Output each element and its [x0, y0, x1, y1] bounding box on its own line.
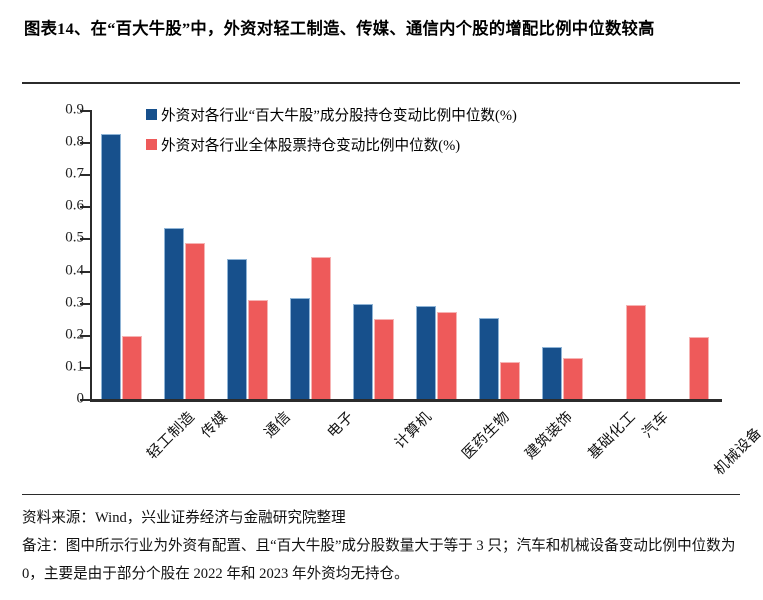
bar-group — [594, 110, 657, 399]
bar-group — [90, 110, 153, 399]
page-title: 图表14、在“百大牛股”中，外资对轻工制造、传媒、通信内个股的增配比例中位数较高 — [24, 14, 750, 44]
y-tick-label: 0.9 — [65, 102, 84, 119]
bar-red[interactable] — [689, 337, 709, 399]
bar-blue[interactable] — [542, 347, 562, 399]
bar-red[interactable] — [122, 336, 142, 399]
x-category-label: 通信 — [259, 406, 295, 442]
legend-item-0: 外资对各行业“百大牛股”成分股持仓变动比例中位数(%) — [146, 104, 517, 125]
x-axis-line — [90, 399, 722, 402]
note-text: 备注：图中所示行业为外资有配置、且“百大牛股”成分股数量大于等于 3 只；汽车和… — [22, 532, 740, 588]
chart-legend: 外资对各行业“百大牛股”成分股持仓变动比例中位数(%) 外资对各行业全体股票持仓… — [146, 104, 517, 164]
chart-plot-area: 00.10.20.30.40.50.60.70.80.9 轻工制造传媒通信电子计… — [22, 84, 740, 496]
legend-label-1: 外资对各行业全体股票持仓变动比例中位数(%) — [161, 134, 460, 155]
x-category-label: 医药生物 — [457, 406, 514, 463]
x-category-label: 电子 — [322, 406, 358, 442]
chart-footer: 资料来源：Wind，兴业证券经济与金融研究院整理 备注：图中所示行业为外资有配置… — [22, 494, 740, 588]
legend-item-1: 外资对各行业全体股票持仓变动比例中位数(%) — [146, 134, 517, 155]
bar-red[interactable] — [437, 312, 457, 399]
y-tick-label: 0.7 — [65, 166, 84, 183]
chart-card: 00.10.20.30.40.50.60.70.80.9 轻工制造传媒通信电子计… — [22, 82, 740, 494]
y-tick-label: 0.6 — [65, 198, 84, 215]
x-category-label: 轻工制造 — [142, 406, 199, 463]
x-category-label: 建筑装饰 — [520, 406, 577, 463]
square-marker-icon — [146, 109, 157, 120]
bar-red[interactable] — [563, 358, 583, 399]
bar-blue[interactable] — [101, 134, 121, 399]
bar-blue[interactable] — [353, 304, 373, 399]
y-tick-label: 0.4 — [65, 262, 84, 279]
y-tick-label: 0.1 — [65, 358, 84, 375]
bar-group — [657, 110, 720, 399]
y-tick-label: 0.5 — [65, 230, 84, 247]
y-tick-label: 0.8 — [65, 134, 84, 151]
y-tick-label: 0.2 — [65, 326, 84, 343]
bar-blue[interactable] — [164, 228, 184, 399]
bar-red[interactable] — [311, 257, 331, 399]
x-category-label: 计算机 — [389, 406, 436, 453]
x-category-label: 机械设备 — [709, 422, 763, 479]
y-tick-label: 0 — [77, 391, 85, 408]
bar-red[interactable] — [248, 300, 268, 399]
bar-blue[interactable] — [479, 318, 499, 399]
bar-group — [531, 110, 594, 399]
bar-blue[interactable] — [416, 306, 436, 399]
square-marker-icon — [146, 139, 157, 150]
bar-red[interactable] — [185, 243, 205, 399]
bar-blue[interactable] — [227, 259, 247, 399]
x-category-label: 传媒 — [196, 406, 232, 442]
source-text: 资料来源：Wind，兴业证券经济与金融研究院整理 — [22, 504, 740, 532]
y-tick-label: 0.3 — [65, 294, 84, 311]
bar-blue[interactable] — [290, 298, 310, 399]
legend-label-0: 外资对各行业“百大牛股”成分股持仓变动比例中位数(%) — [161, 104, 517, 125]
bar-red[interactable] — [500, 362, 520, 399]
bar-red[interactable] — [374, 319, 394, 399]
x-category-label: 基础化工 — [583, 406, 640, 463]
bar-red[interactable] — [626, 305, 646, 399]
figure-page: 图表14、在“百大牛股”中，外资对轻工制造、传媒、通信内个股的增配比例中位数较高… — [0, 0, 763, 600]
x-category-label: 汽车 — [637, 406, 673, 442]
